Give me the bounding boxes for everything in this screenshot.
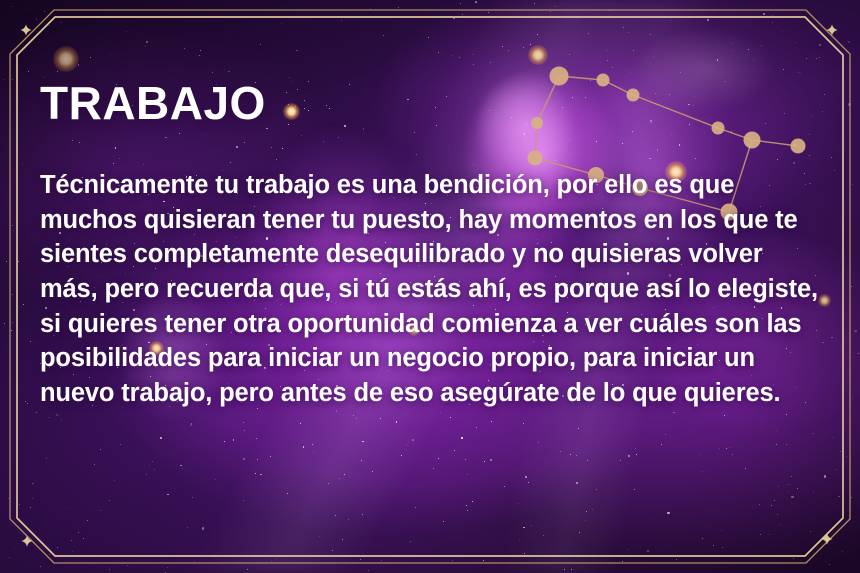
star: [415, 507, 416, 508]
star: [490, 459, 492, 461]
star: [530, 44, 531, 45]
star: [360, 559, 361, 560]
star: [467, 510, 468, 511]
star: [628, 455, 630, 457]
star: [719, 448, 720, 449]
star: [30, 341, 31, 342]
star: [61, 22, 62, 23]
star: [623, 27, 624, 28]
star: [452, 560, 453, 561]
star: [790, 484, 791, 485]
star: [772, 22, 773, 23]
star: [609, 10, 610, 11]
star: [852, 184, 853, 185]
star: [702, 538, 703, 539]
star: [339, 478, 340, 479]
star: [647, 550, 649, 552]
star: [29, 8, 30, 9]
star: [260, 474, 262, 476]
star: [782, 31, 783, 32]
star: [271, 561, 272, 562]
star: [806, 58, 807, 59]
star: [832, 437, 833, 438]
star: [508, 50, 509, 51]
star: [771, 505, 772, 506]
star: [473, 64, 474, 65]
sparkle-icon: [822, 534, 833, 545]
star: [152, 461, 153, 462]
star: [667, 512, 669, 514]
star: [57, 547, 58, 548]
star: [700, 454, 701, 455]
star: [502, 46, 503, 47]
card-content: TRABAJO Técnicamente tu trabajo es una b…: [40, 80, 826, 411]
star: [612, 67, 613, 68]
star: [569, 54, 570, 55]
star: [831, 157, 832, 158]
star: [476, 427, 477, 428]
star: [410, 541, 411, 542]
star: [476, 2, 477, 3]
star: [344, 474, 345, 475]
star: [585, 520, 586, 521]
star: [184, 48, 185, 49]
star: [12, 50, 13, 51]
star: [491, 421, 492, 422]
star: [466, 505, 467, 506]
star: [167, 567, 168, 568]
horoscope-card: TRABAJO Técnicamente tu trabajo es una b…: [0, 0, 860, 573]
star: [588, 33, 589, 34]
star: [49, 25, 50, 26]
star: [586, 511, 587, 512]
star: [383, 35, 384, 36]
star: [793, 558, 794, 559]
star: [109, 569, 110, 570]
star: [110, 54, 111, 55]
star: [18, 261, 19, 262]
star: [523, 423, 524, 424]
star: [228, 71, 230, 73]
star: [212, 72, 213, 73]
star: [786, 444, 787, 445]
star: [438, 52, 439, 53]
star: [146, 474, 147, 475]
glow-star: [53, 46, 79, 72]
star: [779, 524, 780, 525]
star: [12, 79, 13, 80]
star: [244, 430, 245, 431]
star: [852, 398, 853, 399]
star: [848, 103, 850, 105]
star: [702, 471, 703, 472]
star: [462, 14, 463, 15]
star: [32, 483, 34, 485]
star: [61, 419, 62, 420]
star: [146, 41, 148, 43]
star: [635, 448, 636, 449]
star: [303, 446, 305, 448]
star: [760, 534, 761, 535]
star: [32, 498, 33, 499]
star: [192, 497, 193, 498]
glow-star: [528, 45, 548, 65]
star: [30, 507, 31, 508]
star: [438, 458, 439, 459]
star: [72, 551, 73, 552]
star: [167, 494, 169, 496]
star: [579, 532, 580, 533]
star: [372, 471, 373, 472]
star: [846, 456, 847, 457]
star: [748, 49, 749, 50]
star: [851, 286, 852, 287]
star: [555, 6, 556, 7]
star: [538, 49, 539, 50]
star: [791, 476, 792, 477]
star: [467, 474, 468, 475]
star: [731, 50, 732, 51]
star: [87, 520, 88, 521]
star: [578, 428, 579, 429]
star: [571, 569, 572, 570]
star: [761, 45, 763, 47]
star: [587, 460, 588, 461]
star: [724, 415, 725, 416]
star: [257, 459, 258, 460]
star: [22, 163, 24, 165]
star: [71, 540, 72, 541]
star: [70, 54, 71, 55]
star: [243, 500, 244, 501]
star: [523, 47, 524, 48]
star: [450, 417, 451, 418]
star: [834, 170, 836, 172]
star: [11, 330, 13, 332]
star: [401, 455, 402, 456]
star: [443, 521, 444, 522]
star: [825, 561, 826, 562]
star: [848, 41, 850, 43]
star: [795, 42, 796, 43]
star: [772, 15, 773, 16]
star: [287, 493, 288, 494]
star: [665, 434, 666, 435]
star: [328, 483, 329, 484]
star: [348, 519, 349, 520]
star: [94, 464, 95, 465]
star: [842, 551, 843, 552]
star: [27, 403, 28, 404]
star: [543, 535, 544, 536]
star: [145, 46, 146, 47]
star: [778, 486, 779, 487]
star: [729, 447, 730, 448]
star: [381, 560, 382, 561]
star: [276, 559, 277, 560]
star: [534, 3, 535, 4]
star: [465, 459, 466, 460]
star: [345, 555, 347, 557]
star: [224, 441, 225, 442]
star: [812, 433, 813, 434]
star: [194, 561, 195, 562]
star: [853, 357, 854, 358]
star: [13, 230, 14, 231]
star: [289, 77, 290, 78]
star: [849, 165, 850, 166]
star: [525, 476, 527, 478]
star: [732, 43, 733, 44]
star: [836, 469, 837, 470]
star: [36, 412, 37, 413]
star: [797, 488, 798, 489]
star: [490, 62, 491, 63]
star: [440, 412, 441, 413]
star: [270, 456, 271, 457]
star: [819, 57, 820, 58]
star: [538, 442, 539, 443]
star: [56, 414, 58, 416]
star: [44, 11, 45, 12]
star: [199, 55, 200, 56]
star: [361, 460, 362, 461]
star: [281, 23, 282, 24]
star: [300, 423, 301, 424]
star: [633, 50, 634, 51]
star: [504, 486, 505, 487]
star: [191, 423, 193, 425]
star: [353, 415, 354, 416]
star: [769, 534, 770, 535]
star: [460, 3, 461, 4]
sparkle-icon: [21, 25, 32, 36]
star: [854, 330, 856, 332]
star: [428, 37, 429, 38]
star: [243, 422, 244, 423]
star: [560, 451, 561, 452]
star: [707, 19, 709, 21]
star: [783, 69, 784, 70]
star: [182, 468, 183, 469]
star: [356, 418, 357, 419]
star: [661, 444, 662, 445]
star: [78, 532, 79, 533]
star: [659, 556, 660, 557]
star: [335, 515, 336, 516]
star: [454, 450, 455, 451]
star: [473, 54, 474, 55]
star: [187, 527, 188, 528]
star: [368, 570, 369, 571]
star: [332, 550, 333, 551]
star: [243, 458, 245, 460]
star: [219, 16, 220, 17]
star: [256, 438, 257, 439]
star: [519, 540, 520, 541]
star: [680, 72, 681, 73]
star: [630, 72, 631, 73]
star: [732, 454, 733, 455]
star: [592, 509, 593, 510]
star: [313, 452, 314, 453]
star: [518, 503, 519, 504]
star: [620, 460, 621, 461]
star: [717, 59, 719, 61]
star: [776, 444, 777, 445]
star: [673, 412, 675, 414]
star: [380, 418, 382, 420]
star: [777, 514, 778, 515]
star: [800, 73, 801, 74]
star: [233, 439, 235, 441]
star: [319, 536, 320, 537]
star: [190, 425, 191, 426]
star: [109, 500, 110, 501]
star: [523, 527, 525, 529]
star: [396, 421, 398, 423]
star: [215, 479, 217, 481]
star: [312, 444, 314, 446]
star: [753, 60, 754, 61]
star: [788, 491, 789, 492]
star: [25, 401, 26, 402]
star: [362, 441, 364, 443]
star: [296, 50, 298, 52]
star: [824, 475, 826, 477]
star: [472, 501, 473, 502]
star: [149, 465, 150, 466]
star: [653, 56, 654, 57]
star: [46, 457, 48, 459]
star: [606, 50, 607, 51]
star: [12, 294, 13, 295]
star: [524, 553, 525, 554]
star: [851, 497, 852, 498]
star: [721, 530, 722, 531]
star: [342, 539, 343, 540]
star: [433, 468, 434, 469]
star: [247, 569, 248, 570]
star: [180, 465, 182, 467]
star: [488, 12, 489, 13]
star: [576, 455, 577, 456]
sparkle-icon: [22, 536, 33, 547]
star: [14, 548, 15, 549]
star: [154, 469, 155, 470]
star: [57, 71, 58, 72]
star: [786, 414, 787, 415]
star: [726, 448, 727, 449]
star: [452, 55, 453, 56]
star: [202, 527, 204, 529]
star: [622, 561, 623, 562]
star: [816, 58, 817, 59]
star: [370, 8, 371, 9]
star: [412, 439, 414, 441]
star: [670, 20, 671, 21]
star: [114, 480, 115, 481]
star: [745, 468, 746, 469]
horoscope-body-text: Técnicamente tu trabajo es una bendición…: [40, 168, 826, 411]
star: [810, 531, 811, 532]
star: [628, 32, 629, 33]
star: [475, 1, 477, 3]
star: [829, 564, 830, 565]
star: [791, 496, 793, 498]
star: [484, 461, 485, 462]
star: [4, 323, 5, 324]
star: [9, 557, 10, 558]
star: [788, 484, 789, 485]
star: [100, 449, 101, 450]
star: [798, 72, 799, 73]
star: [8, 498, 9, 499]
star: [570, 454, 571, 455]
star: [4, 79, 5, 80]
star: [650, 34, 651, 35]
star: [713, 545, 714, 546]
star: [759, 504, 760, 505]
star: [676, 559, 677, 560]
star: [40, 566, 41, 567]
star: [550, 11, 551, 12]
star: [90, 57, 91, 58]
star: [774, 500, 775, 501]
star: [838, 496, 840, 498]
star: [636, 454, 637, 455]
star: [453, 18, 455, 20]
star: [537, 34, 538, 35]
star: [776, 430, 777, 431]
star: [11, 6, 12, 7]
star: [200, 50, 201, 51]
star: [23, 304, 24, 305]
star: [564, 569, 565, 570]
star: [483, 560, 484, 561]
star: [634, 489, 635, 490]
star: [576, 482, 578, 484]
star: [78, 64, 80, 66]
star: [12, 322, 13, 323]
star: [255, 473, 256, 474]
star: [459, 57, 460, 58]
star: [596, 489, 597, 490]
star: [858, 353, 859, 354]
star: [127, 565, 128, 566]
star: [126, 31, 127, 32]
star: [120, 444, 121, 445]
star: [840, 451, 841, 452]
star: [362, 514, 363, 515]
star: [160, 437, 162, 439]
star: [83, 538, 84, 539]
star: [722, 547, 723, 548]
star: [813, 491, 814, 492]
star: [100, 510, 101, 511]
star: [819, 44, 821, 46]
star: [260, 44, 261, 45]
star: [19, 504, 20, 505]
star: [49, 554, 50, 555]
star: [763, 13, 765, 15]
star: [28, 71, 29, 72]
star: [66, 508, 67, 509]
star: [398, 7, 399, 8]
star: [531, 525, 532, 526]
star: [12, 225, 13, 226]
star: [36, 18, 38, 20]
